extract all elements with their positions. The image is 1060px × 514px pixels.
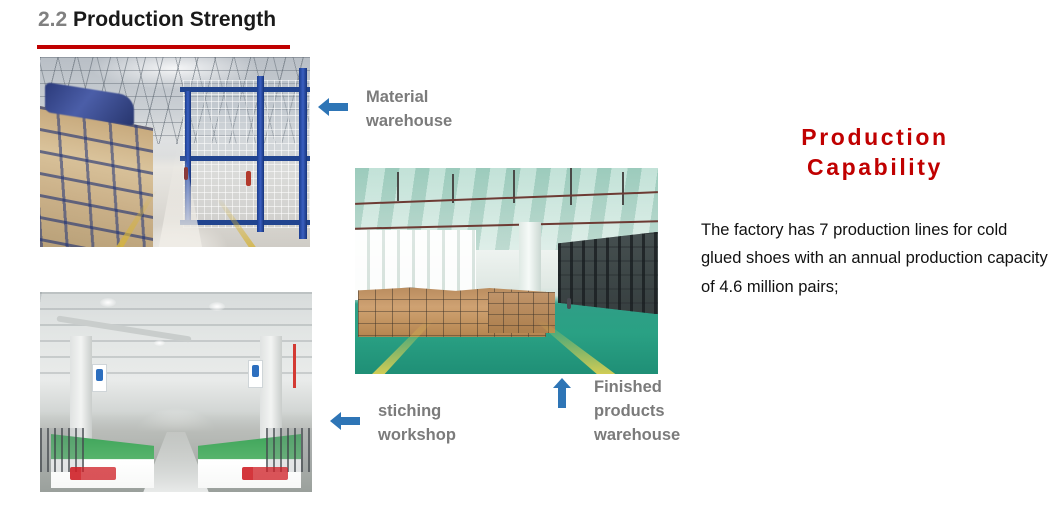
- pillar-detail: [260, 336, 282, 440]
- ceiling-lamp-detail: [100, 298, 116, 307]
- capability-body-text: The factory has 7 production lines for c…: [701, 216, 1049, 301]
- material-cart-detail: [40, 428, 84, 472]
- rack-beam-detail: [180, 220, 310, 225]
- callout-material-warehouse: Material warehouse: [318, 86, 452, 134]
- ceiling-hanger-detail: [570, 168, 572, 205]
- ceiling-hanger-detail: [622, 172, 624, 205]
- rack-post-detail: [257, 76, 264, 232]
- rack-beam-detail: [180, 87, 310, 92]
- worker-figure-detail: [246, 171, 251, 186]
- company-logo-detail: [242, 467, 288, 480]
- ceiling-hanger-detail: [397, 172, 399, 201]
- worker-figure-detail: [184, 167, 188, 180]
- wall-sign-detail: [248, 360, 263, 388]
- page-title-number: 2.2: [38, 8, 67, 31]
- rack-post-detail: [299, 68, 307, 239]
- company-logo-detail: [70, 467, 116, 480]
- callout-label: stiching workshop: [378, 400, 456, 448]
- arrow-left-icon: [330, 410, 360, 437]
- title-underline-rule: [37, 45, 290, 49]
- material-cart-detail: [266, 428, 312, 472]
- pillar-detail: [70, 336, 92, 440]
- arrow-up-icon: [552, 378, 572, 413]
- callout-label: Material warehouse: [366, 86, 452, 134]
- photo-stitching-workshop: [40, 292, 312, 492]
- carton-rack-detail: [40, 106, 153, 247]
- storage-rack-detail: [558, 232, 658, 314]
- page-title-text: Production Strength: [73, 8, 276, 31]
- red-pole-detail: [293, 344, 296, 388]
- photo-finished-products-warehouse: [355, 168, 658, 374]
- worker-figure-detail: [567, 298, 571, 309]
- wall-sign-detail: [92, 364, 107, 392]
- arrow-left-icon: [318, 96, 348, 123]
- rack-beam-detail: [180, 156, 310, 161]
- page-title: 2.2 Production Strength: [38, 8, 276, 32]
- ceiling-lamp-detail: [209, 302, 225, 311]
- callout-finished-products-warehouse: Finished products warehouse: [552, 378, 680, 448]
- photo-material-warehouse: [40, 57, 310, 247]
- capability-heading: Production Capability: [700, 122, 1050, 183]
- callout-stitching-workshop: stiching workshop: [330, 400, 456, 448]
- callout-label: Finished products warehouse: [594, 376, 680, 448]
- mesh-fence-detail: [183, 80, 310, 228]
